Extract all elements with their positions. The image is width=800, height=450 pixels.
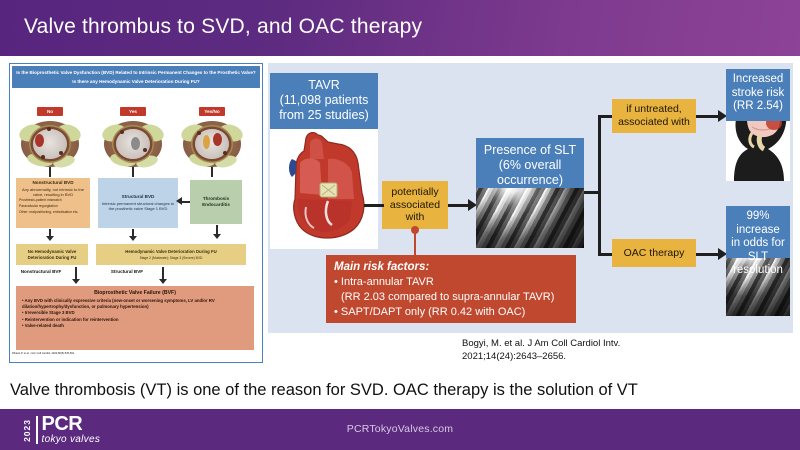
bioprosthetic-valve-failure-box: Bioprosthetic Valve Failure (BVF) • Any … [16, 286, 254, 350]
connector-line [132, 167, 134, 177]
slide: Valve thrombus to SVD, and OAC therapy I… [0, 0, 800, 450]
hemodynamic-deterioration-box: Hemodynamic Valve Deterioration During F… [96, 244, 246, 265]
nonstructural-bvd-bullet-3: Other: malpositioning, embolisation etc. [19, 210, 87, 215]
heart-illustration [270, 129, 378, 249]
resolution-line1: 99% increase [730, 210, 786, 237]
risk-factor-2: • SAPT/DAPT only (RR 0.42 with OAC) [334, 305, 568, 320]
resolution-line3: SLT resolution [730, 251, 786, 278]
slt-line1: Presence of SLT [480, 143, 580, 158]
flow-arrow [696, 115, 720, 118]
figure-citation: Pibarot P, et al. J Am Coll Cardiol. 202… [12, 352, 75, 355]
risk-factor-1-line2: (RR 2.03 compared to supra-annular TAVR) [334, 290, 568, 305]
bvd-question-line1: Is the Bioprosthetic Valve Dysfunction (… [16, 70, 255, 75]
flow-arrow [598, 115, 612, 118]
connector-line [211, 167, 213, 177]
untreated-line2: associated with [617, 116, 691, 129]
tavr-line3: from 25 studies) [274, 108, 374, 123]
citation-line2: 2021;14(24):2643–2656. [462, 351, 620, 364]
valve-illustration-nonstructural [21, 121, 79, 167]
flow-arrow [448, 204, 470, 207]
risk-connector-dot [411, 226, 419, 234]
arrow-head [129, 236, 137, 241]
footer-bar: 2023 PCR tokyo valves PCRTokyoValves.com [0, 409, 800, 450]
arrow-head [46, 236, 54, 241]
tavr-box: TAVR (11,098 patients from 25 studies) [270, 73, 378, 129]
slt-resolution-box: 99% increase in odds for SLT resolution [726, 206, 790, 258]
bvf-bullet-4: • Valve-related death [22, 323, 248, 329]
potentially-associated-tag: potentially associated with [382, 181, 448, 229]
if-untreated-tag: if untreated, associated with [612, 99, 696, 133]
hemodynamic-deterioration-title: Hemodynamic Valve Deterioration During F… [98, 249, 244, 255]
untreated-line1: if untreated, [617, 103, 691, 116]
answer-label-yes: Yes [120, 107, 146, 116]
heart-anatomy-image [270, 129, 378, 249]
flow-arrow [598, 253, 612, 256]
stroke-line3: (RR 2.54) [730, 100, 786, 114]
slt-presence-box: Presence of SLT (6% overall occurrence) [476, 138, 584, 188]
nonstructural-bvf-label: Nonstructural BVF [14, 269, 68, 275]
flow-arrow [696, 253, 720, 256]
structural-bvd-subtitle: Intrinsic permanent structural changes t… [101, 201, 175, 211]
footer-url: PCRTokyoValves.com [0, 423, 800, 435]
hemodynamic-deterioration-subtitle: Stage 2 (Moderate); Stage 3 (Severe) BVD [98, 256, 244, 260]
connector-line [49, 167, 51, 177]
tavr-line1: TAVR [274, 78, 374, 93]
assoc-line2: associated [387, 199, 443, 212]
assoc-line1: potentially [387, 186, 443, 199]
structural-bvd-box: Structural BVD Intrinsic permanent struc… [98, 178, 178, 228]
structural-bvf-label: Structural BVF [102, 269, 152, 275]
assoc-line3: with [387, 211, 443, 224]
nonstructural-bvd-title: Nonstructural BVD [19, 180, 87, 186]
oac-label: OAC therapy [624, 247, 685, 260]
arrow-head [72, 279, 80, 284]
tavr-line2: (11,098 patients [274, 93, 374, 108]
structural-bvd-title: Structural BVD [101, 194, 175, 200]
bvd-question-box: Is the Bioprosthetic Valve Dysfunction (… [12, 66, 260, 88]
risk-factors-title: Main risk factors: [334, 261, 568, 273]
oac-therapy-tag: OAC therapy [612, 239, 696, 267]
page-title: Valve thrombus to SVD, and OAC therapy [24, 15, 422, 39]
thrombosis-endocarditis-title: Thrombosis Endocarditis [193, 196, 239, 208]
slt-line2: (6% overall [480, 158, 580, 173]
logo-subbrand: tokyo valves [42, 434, 101, 445]
source-citation: Bogyi, M. et al. J Am Coll Cardiol Intv.… [462, 338, 620, 364]
valve-illustration-structural [104, 121, 162, 167]
slide-caption: Valve thrombosis (VT) is one of the reas… [10, 381, 638, 400]
bvf-bullet-1: • Any BVD with clinically expressive cri… [22, 298, 248, 310]
citation-line1: Bogyi, M. et al. J Am Coll Cardiol Intv. [462, 338, 620, 351]
flow-branch-line [598, 115, 601, 255]
arrow-head [213, 234, 221, 239]
no-hemodynamic-deterioration-box: No Hemodynamic Valve Deterioration Durin… [16, 244, 88, 265]
flow-arrow [364, 204, 384, 207]
title-bar: Valve thrombus to SVD, and OAC therapy [0, 0, 800, 56]
slt-line3: occurrence) [480, 173, 580, 188]
thrombosis-endocarditis-box: Thrombosis Endocarditis [190, 180, 242, 224]
nonstructural-bvd-subtitle: Any abnormality, not intrinsic to the va… [19, 187, 87, 197]
resolution-line2: in odds for [730, 237, 786, 251]
bvf-title: Bioprosthetic Valve Failure (BVF) [22, 290, 248, 296]
nonstructural-bvd-bullet-2: Paravalvular regurgitation [19, 204, 87, 209]
slt-flow-panel: TAVR (11,098 patients from 25 studies) p… [268, 63, 793, 333]
answer-label-yesno: Yes/No [199, 107, 225, 116]
stroke-line1: Increased [730, 73, 786, 87]
bvd-question-line2: Is there any Hemodynamic Valve Deteriora… [16, 78, 256, 85]
bvd-classification-figure: Is the Bioprosthetic Valve Dysfunction (… [9, 63, 263, 363]
no-hemodynamic-deterioration-title: No Hemodynamic Valve Deterioration Durin… [18, 249, 86, 261]
main-risk-factors-box: Main risk factors: • Intra-annular TAVR … [326, 255, 576, 323]
nonstructural-bvd-bullet-1: Prosthesis-patient mismatch [19, 198, 87, 203]
arrow-head [159, 279, 167, 284]
risk-factor-1-line1: • Intra-annular TAVR [334, 275, 568, 290]
stroke-risk-box: Increased stroke risk (RR 2.54) [726, 69, 790, 121]
stroke-line2: stroke risk [730, 87, 786, 101]
answer-label-no: No [37, 107, 63, 116]
valve-illustration-thrombosis [183, 121, 241, 167]
nonstructural-bvd-box: Nonstructural BVD Any abnormality, not i… [16, 178, 90, 228]
arrow-head [176, 197, 182, 205]
